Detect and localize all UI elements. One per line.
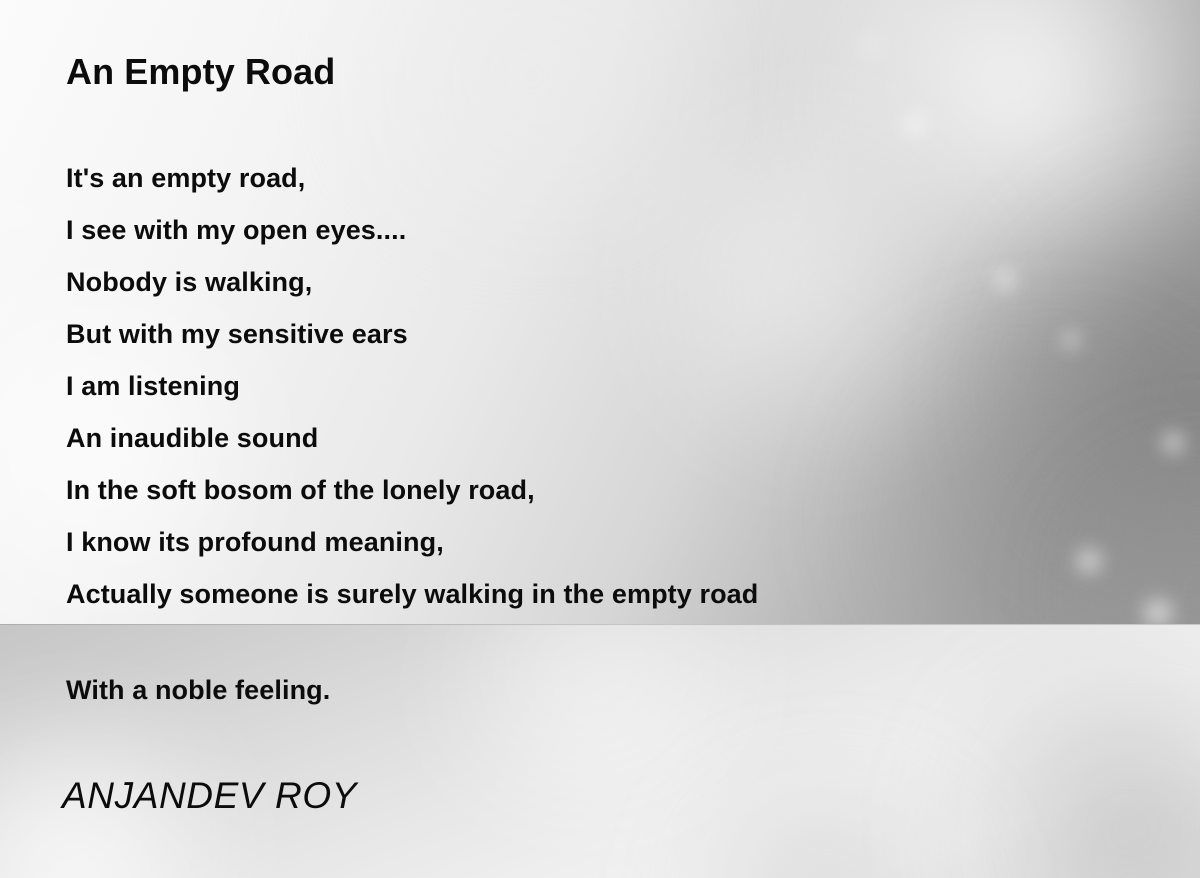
poem-line: I know its profound meaning, xyxy=(66,516,1126,568)
poem-line: Nobody is walking, xyxy=(66,256,1126,308)
poem-line: I am listening xyxy=(66,360,1126,412)
poem-line: In the soft bosom of the lonely road, xyxy=(66,464,1126,516)
poem-title: An Empty Road xyxy=(66,52,335,92)
poem-author-signature: ANJANDEV ROY xyxy=(62,776,357,817)
poem-line: But with my sensitive ears xyxy=(66,308,1126,360)
poem-line: Actually someone is surely walking in th… xyxy=(66,568,1126,620)
poem-stanza: It's an empty road, I see with my open e… xyxy=(66,152,1126,620)
poem-line: It's an empty road, xyxy=(66,152,1126,204)
poem-closing-line: With a noble feeling. xyxy=(66,672,330,708)
poem-text-layer: An Empty Road It's an empty road, I see … xyxy=(0,0,1200,878)
poem-line: I see with my open eyes.... xyxy=(66,204,1126,256)
poem-line: An inaudible sound xyxy=(66,412,1126,464)
poem-poster: An Empty Road It's an empty road, I see … xyxy=(0,0,1200,878)
